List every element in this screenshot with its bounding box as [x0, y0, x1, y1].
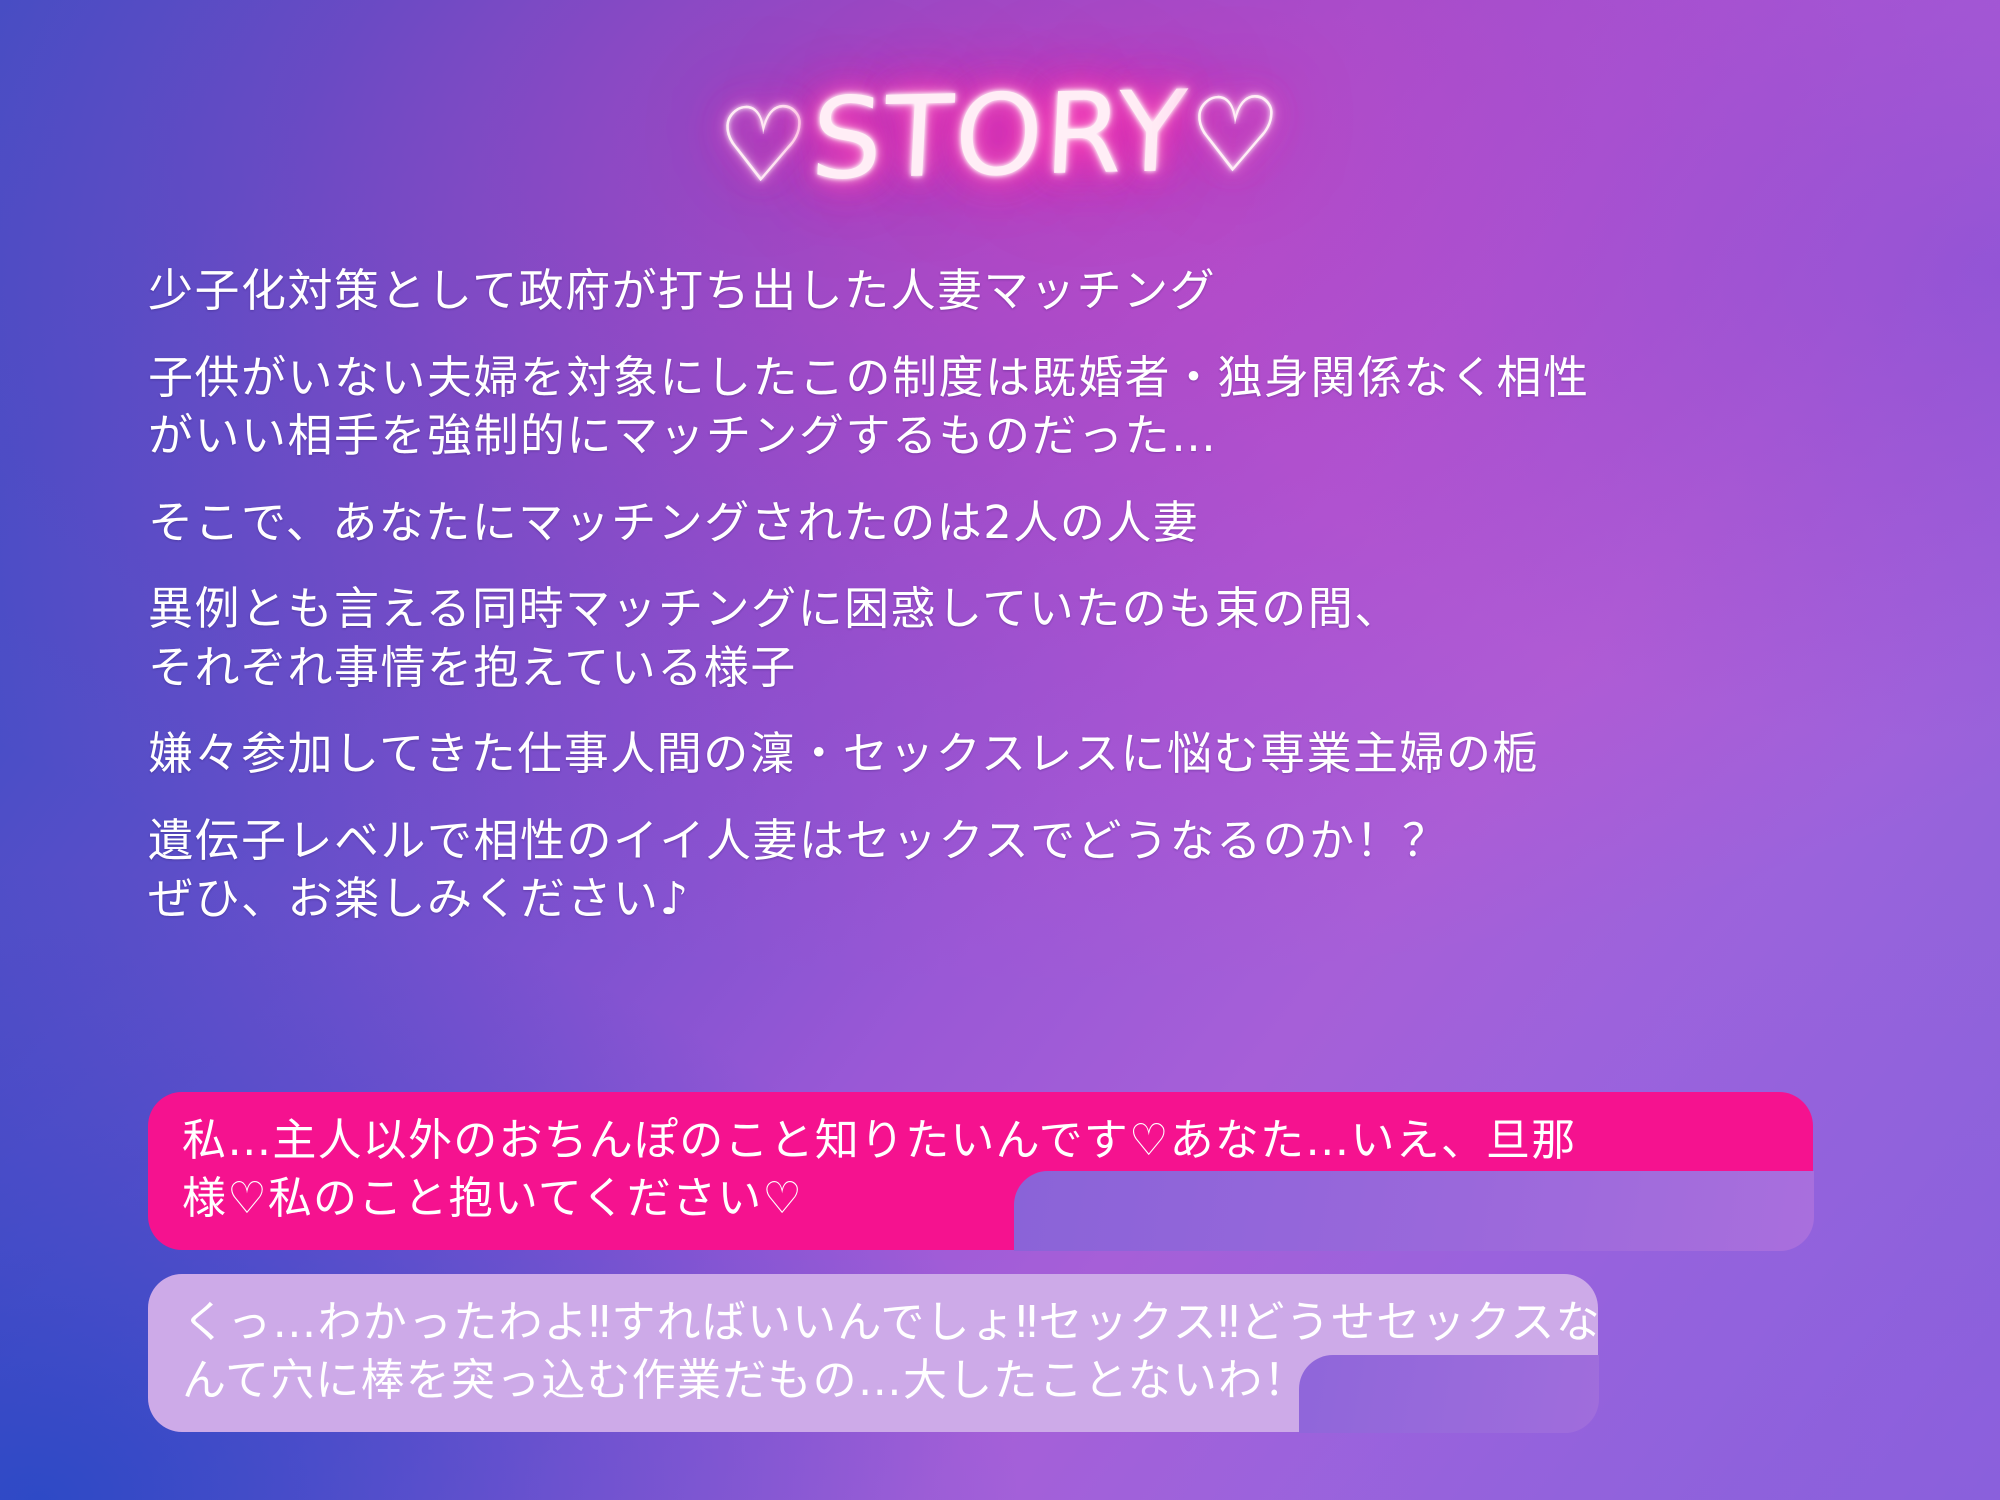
story-paragraph-1: 少子化対策として政府が打ち出した人妻マッチング	[148, 262, 1908, 321]
neon-story-heading: ♡STORY♡	[714, 72, 1287, 202]
story-paragraph-2: 子供がいない夫婦を対象にしたこの制度は既婚者・独身関係なく相性 がいい相手を強制…	[148, 349, 1908, 466]
heart-left-icon: ♡	[713, 83, 814, 207]
bubble-notch	[1299, 1355, 1599, 1433]
story-line: 嫌々参加してきた仕事人間の澟・セックスレスに悩む専業主婦の栀	[148, 725, 1908, 784]
page-title: ♡STORY♡	[0, 78, 2000, 196]
story-line: そこで、あなたにマッチングされたのは2人の人妻	[148, 494, 1908, 553]
story-paragraph-3: そこで、あなたにマッチングされたのは2人の人妻	[148, 494, 1908, 553]
story-line: 子供がいない夫婦を対象にしたこの制度は既婚者・独身関係なく相性	[148, 349, 1908, 408]
dialogue-line: 様♡私のこと抱いてください♡	[182, 1170, 1779, 1228]
dialogue-list: 私…主人以外のおちんぽのこと知りたいんです♡あなた…いえ、旦那 様♡私のこと抱い…	[148, 1092, 1888, 1432]
dialogue-line: くっ…わかったわよ‼すればいいんでしょ‼セックス‼どうせセックスな	[182, 1294, 1564, 1352]
bubble-notch	[1014, 1171, 1814, 1251]
dialogue-bubble-lilac: くっ…わかったわよ‼すればいいんでしょ‼セックス‼どうせセックスな んて穴に棒を…	[148, 1274, 1598, 1432]
heart-right-icon: ♡	[1185, 73, 1286, 197]
story-line: 遺伝子レベルで相性のイイ人妻はセックスでどうなるのか！？	[148, 812, 1908, 871]
title-text: STORY	[809, 67, 1192, 205]
story-line: それぞれ事情を抱えている様子	[148, 639, 1908, 698]
story-line: ぜひ、お楽しみください♪	[148, 870, 1908, 929]
story-paragraph-6: 遺伝子レベルで相性のイイ人妻はセックスでどうなるのか！？ ぜひ、お楽しみください…	[148, 812, 1908, 929]
story-body: 少子化対策として政府が打ち出した人妻マッチング 子供がいない夫婦を対象にしたこの…	[148, 262, 1908, 955]
story-line: 異例とも言える同時マッチングに困惑していたのも束の間、	[148, 580, 1908, 639]
story-line: 少子化対策として政府が打ち出した人妻マッチング	[148, 262, 1908, 321]
dialogue-bubble-pink: 私…主人以外のおちんぽのこと知りたいんです♡あなた…いえ、旦那 様♡私のこと抱い…	[148, 1092, 1813, 1250]
story-paragraph-4: 異例とも言える同時マッチングに困惑していたのも束の間、 それぞれ事情を抱えている…	[148, 580, 1908, 697]
story-page: ♡STORY♡ 少子化対策として政府が打ち出した人妻マッチング 子供がいない夫婦…	[0, 0, 2000, 1500]
story-paragraph-5: 嫌々参加してきた仕事人間の澟・セックスレスに悩む専業主婦の栀	[148, 725, 1908, 784]
story-line: がいい相手を強制的にマッチングするものだった…	[148, 407, 1908, 466]
dialogue-line: 私…主人以外のおちんぽのこと知りたいんです♡あなた…いえ、旦那	[182, 1112, 1779, 1170]
